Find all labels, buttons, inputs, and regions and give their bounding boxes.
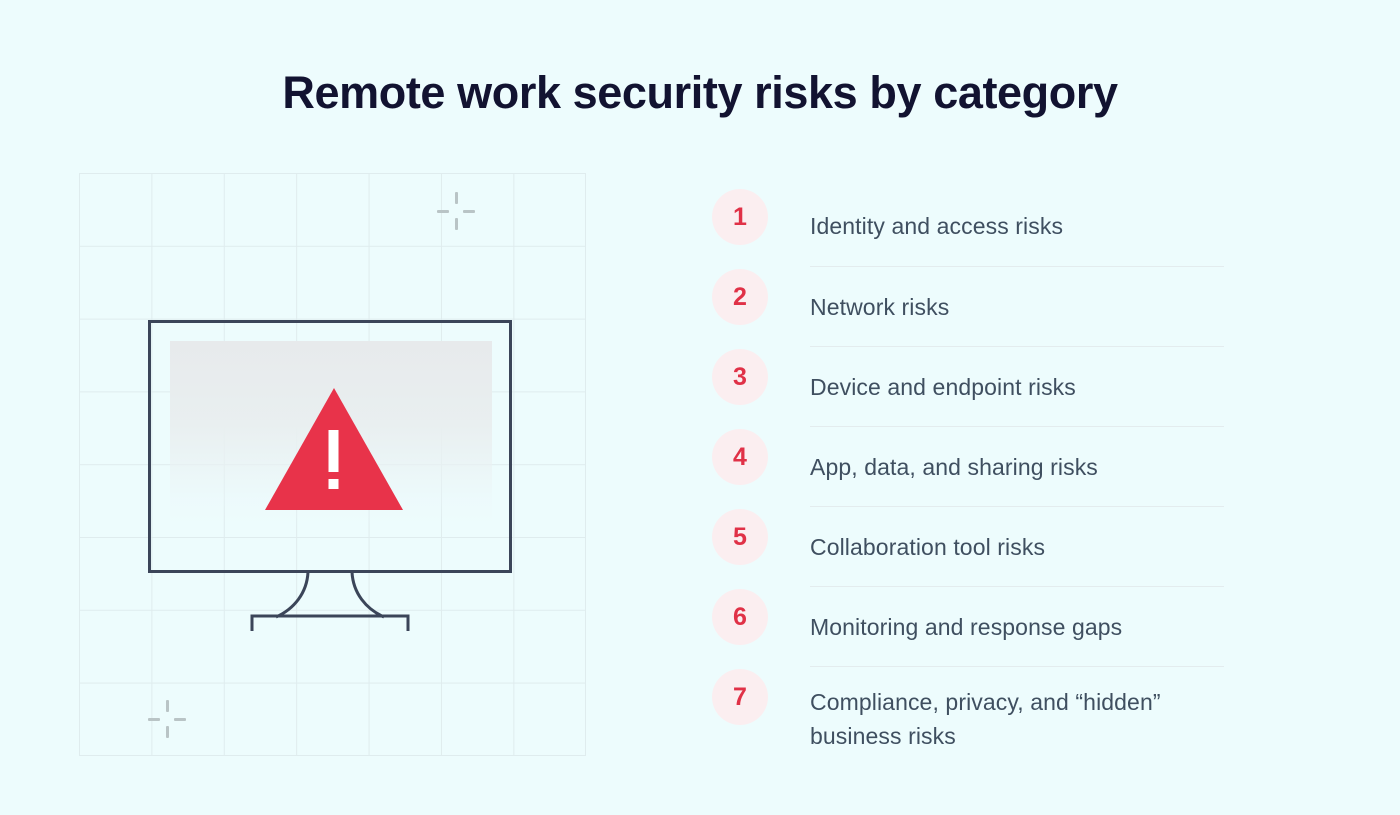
risk-number-badge: 3 [712,349,768,405]
crosshair-tick-right [463,210,475,213]
page-title: Remote work security risks by category [0,64,1400,122]
risk-item-body: Compliance, privacy, and “hidden” busine… [810,666,1224,770]
risk-item-body: App, data, and sharing risks [810,426,1224,506]
risk-item-body: Device and endpoint risks [810,346,1224,426]
risk-number-badge: 6 [712,589,768,645]
crosshair-tick-bottom [166,726,169,738]
risk-item-label: Device and endpoint risks [810,368,1076,406]
monitor-stand [148,571,512,631]
crosshair-marker-icon [147,699,187,739]
list-item[interactable]: 5 Collaboration tool risks [712,506,1224,586]
risk-number-badge: 4 [712,429,768,485]
crosshair-tick-left [437,210,449,213]
risk-item-label: App, data, and sharing risks [810,448,1098,486]
list-item[interactable]: 6 Monitoring and response gaps [712,586,1224,666]
crosshair-marker-icon [436,191,476,231]
risk-item-body: Collaboration tool risks [810,506,1224,586]
crosshair-tick-top [166,700,169,712]
monitor-icon [148,320,512,573]
crosshair-tick-left [148,718,160,721]
risk-category-list: 1 Identity and access risks 2 Network ri… [712,186,1224,770]
risk-item-label: Monitoring and response gaps [810,608,1122,646]
risk-number-badge: 1 [712,189,768,245]
risk-item-label: Network risks [810,288,949,326]
monitor-with-warning-illustration [79,173,586,756]
list-item[interactable]: 3 Device and endpoint risks [712,346,1224,426]
list-item[interactable]: 1 Identity and access risks [712,186,1224,266]
risk-number-badge: 7 [712,669,768,725]
list-item[interactable]: 4 App, data, and sharing risks [712,426,1224,506]
risk-item-body: Identity and access risks [810,186,1224,266]
crosshair-tick-right [174,718,186,721]
risk-item-label: Collaboration tool risks [810,528,1045,566]
list-item[interactable]: 2 Network risks [712,266,1224,346]
crosshair-tick-top [455,192,458,204]
risk-item-label: Identity and access risks [810,207,1063,245]
warning-triangle-icon [265,388,403,510]
risk-number-badge: 2 [712,269,768,325]
risk-item-label: Compliance, privacy, and “hidden” busine… [810,683,1224,755]
list-item[interactable]: 7 Compliance, privacy, and “hidden” busi… [712,666,1224,770]
risk-item-body: Monitoring and response gaps [810,586,1224,666]
risk-number-badge: 5 [712,509,768,565]
risk-item-body: Network risks [810,266,1224,346]
crosshair-tick-bottom [455,218,458,230]
